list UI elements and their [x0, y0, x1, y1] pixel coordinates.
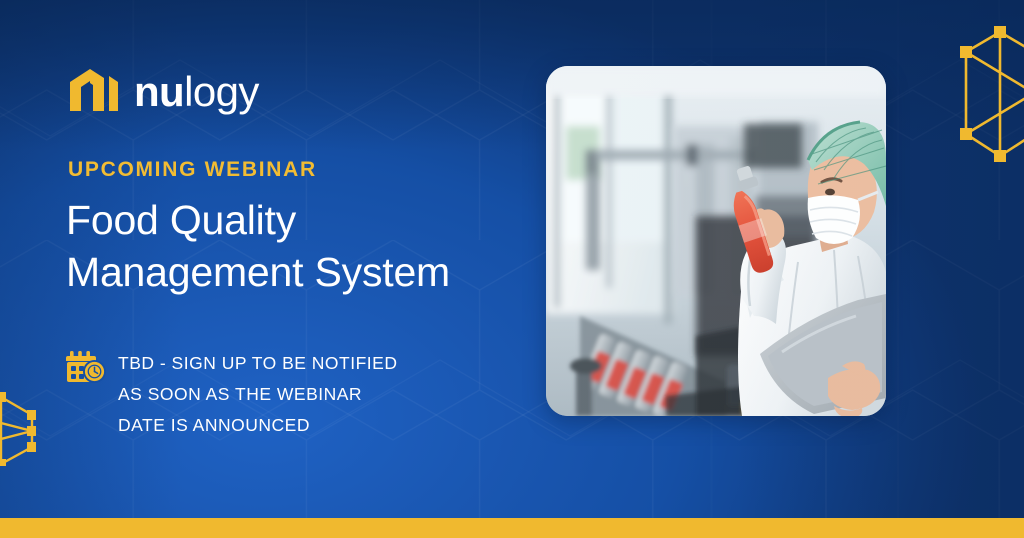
eyebrow-label: UPCOMING WEBINAR	[68, 158, 317, 182]
wordmark-logy: logy	[184, 68, 259, 115]
wordmark-nu: nu	[134, 68, 184, 115]
hexagon-node-graphic-right	[958, 26, 1024, 162]
calendar-clock-icon	[66, 350, 106, 384]
webinar-date-text: TBD - SIGN UP TO BE NOTIFIED AS SOON AS …	[118, 348, 397, 440]
nulogy-wordmark: nulogy	[134, 71, 259, 113]
gold-bottom-bar	[0, 518, 1024, 538]
nulogy-logo[interactable]: nulogy	[68, 66, 259, 118]
webinar-photo	[546, 66, 886, 416]
date-line-3: DATE IS ANNOUNCED	[118, 415, 310, 435]
photo-scene	[546, 66, 886, 416]
hexagon-node-graphic-left	[0, 392, 36, 466]
date-line-2: AS SOON AS THE WEBINAR	[118, 384, 362, 404]
date-line-1: TBD - SIGN UP TO BE NOTIFIED	[118, 353, 397, 373]
page-title: Food Quality Management System	[66, 194, 536, 298]
webinar-date-block: TBD - SIGN UP TO BE NOTIFIED AS SOON AS …	[66, 348, 486, 440]
content-column: nulogy UPCOMING WEBINAR Food Quality Man…	[62, 0, 522, 538]
nulogy-logo-mark	[68, 66, 120, 118]
webinar-promo-banner: nulogy UPCOMING WEBINAR Food Quality Man…	[0, 0, 1024, 538]
